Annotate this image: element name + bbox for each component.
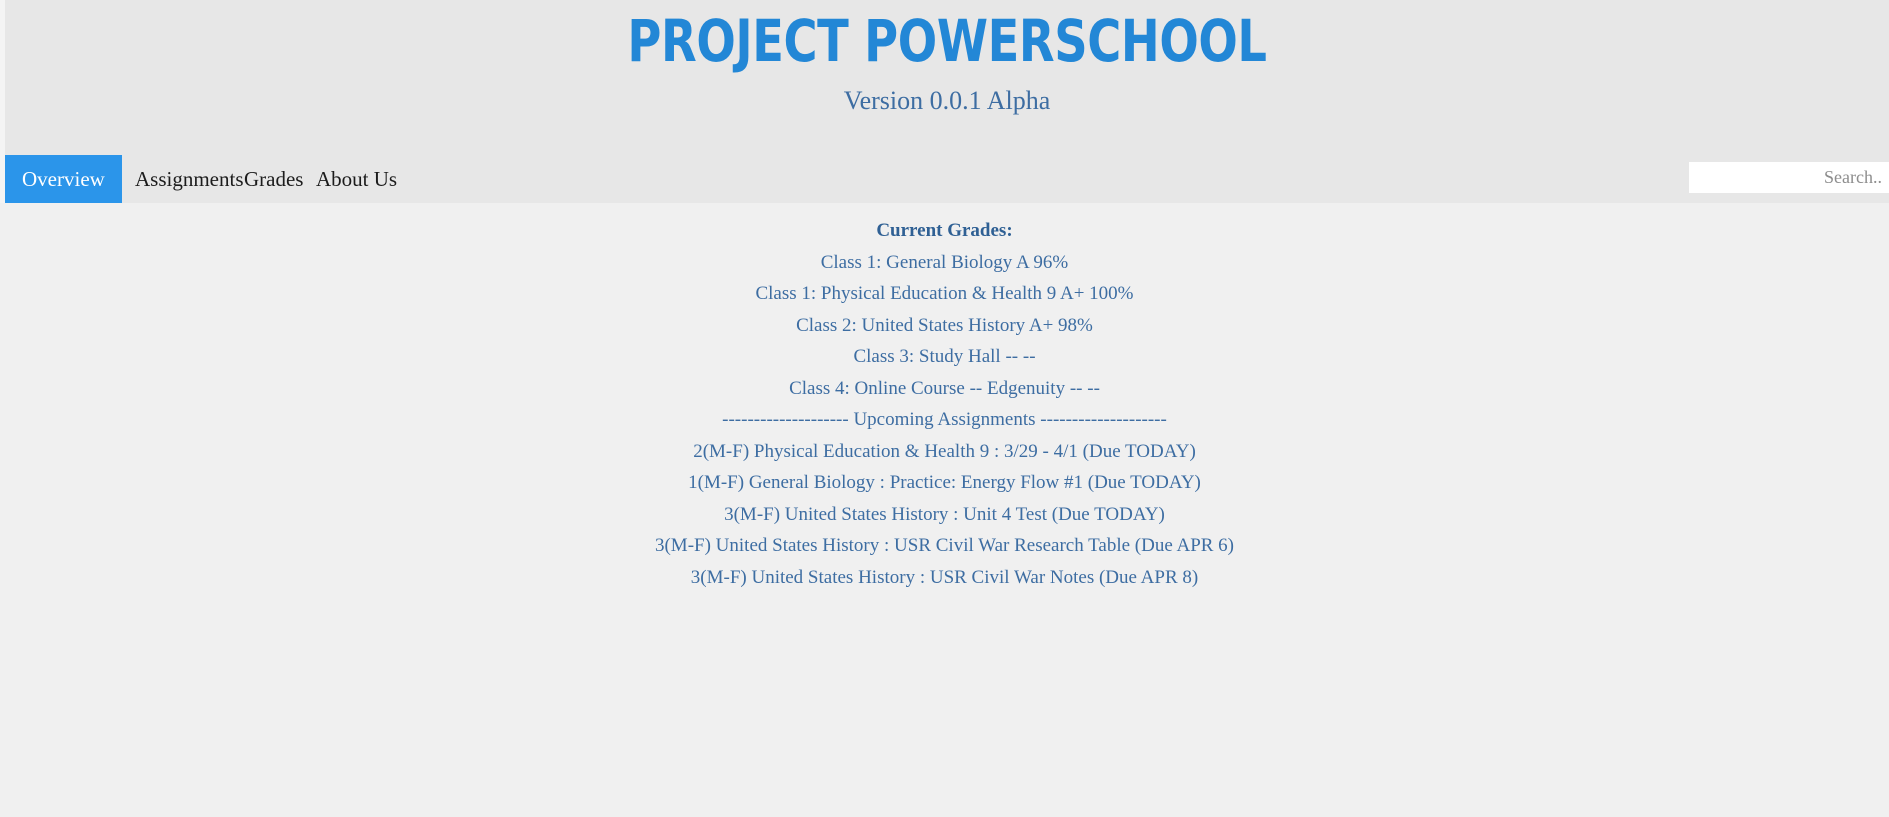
current-grades-heading: Current Grades: (0, 215, 1889, 247)
assignment-row: 2(M-F) Physical Education & Health 9 : 3… (0, 436, 1889, 468)
upcoming-assignments-divider: -------------------- Upcoming Assignment… (0, 404, 1889, 436)
grade-row: Class 3: Study Hall -- -- (0, 341, 1889, 373)
grade-row: Class 2: United States History A+ 98% (0, 310, 1889, 342)
page-title: PROJECT POWERSCHOOL (193, 8, 1700, 74)
content-top-spacer (0, 203, 1889, 215)
search-input[interactable] (1689, 162, 1889, 193)
assignment-row: 3(M-F) United States History : USR Civil… (0, 562, 1889, 594)
assignments-list: 2(M-F) Physical Education & Health 9 : 3… (0, 436, 1889, 594)
grades-list: Class 1: General Biology A 96% Class 1: … (0, 247, 1889, 405)
nav-item-overview[interactable]: Overview (5, 155, 122, 203)
assignment-row: 1(M-F) General Biology : Practice: Energ… (0, 467, 1889, 499)
nav-item-about-us[interactable]: About Us (299, 155, 414, 203)
main-navigation: Overview Assignments Grades About Us (5, 155, 1889, 203)
assignment-row: 3(M-F) United States History : USR Civil… (0, 530, 1889, 562)
grade-row: Class 4: Online Course -- Edgenuity -- -… (0, 373, 1889, 405)
grade-row: Class 1: Physical Education & Health 9 A… (0, 278, 1889, 310)
app-root: PROJECT POWERSCHOOL Version 0.0.1 Alpha … (0, 0, 1889, 817)
assignment-row: 3(M-F) United States History : Unit 4 Te… (0, 499, 1889, 531)
page-header: PROJECT POWERSCHOOL Version 0.0.1 Alpha … (5, 0, 1889, 203)
grade-row: Class 1: General Biology A 96% (0, 247, 1889, 279)
main-content: Current Grades: Class 1: General Biology… (0, 203, 1889, 817)
version-label: Version 0.0.1 Alpha (5, 84, 1889, 118)
